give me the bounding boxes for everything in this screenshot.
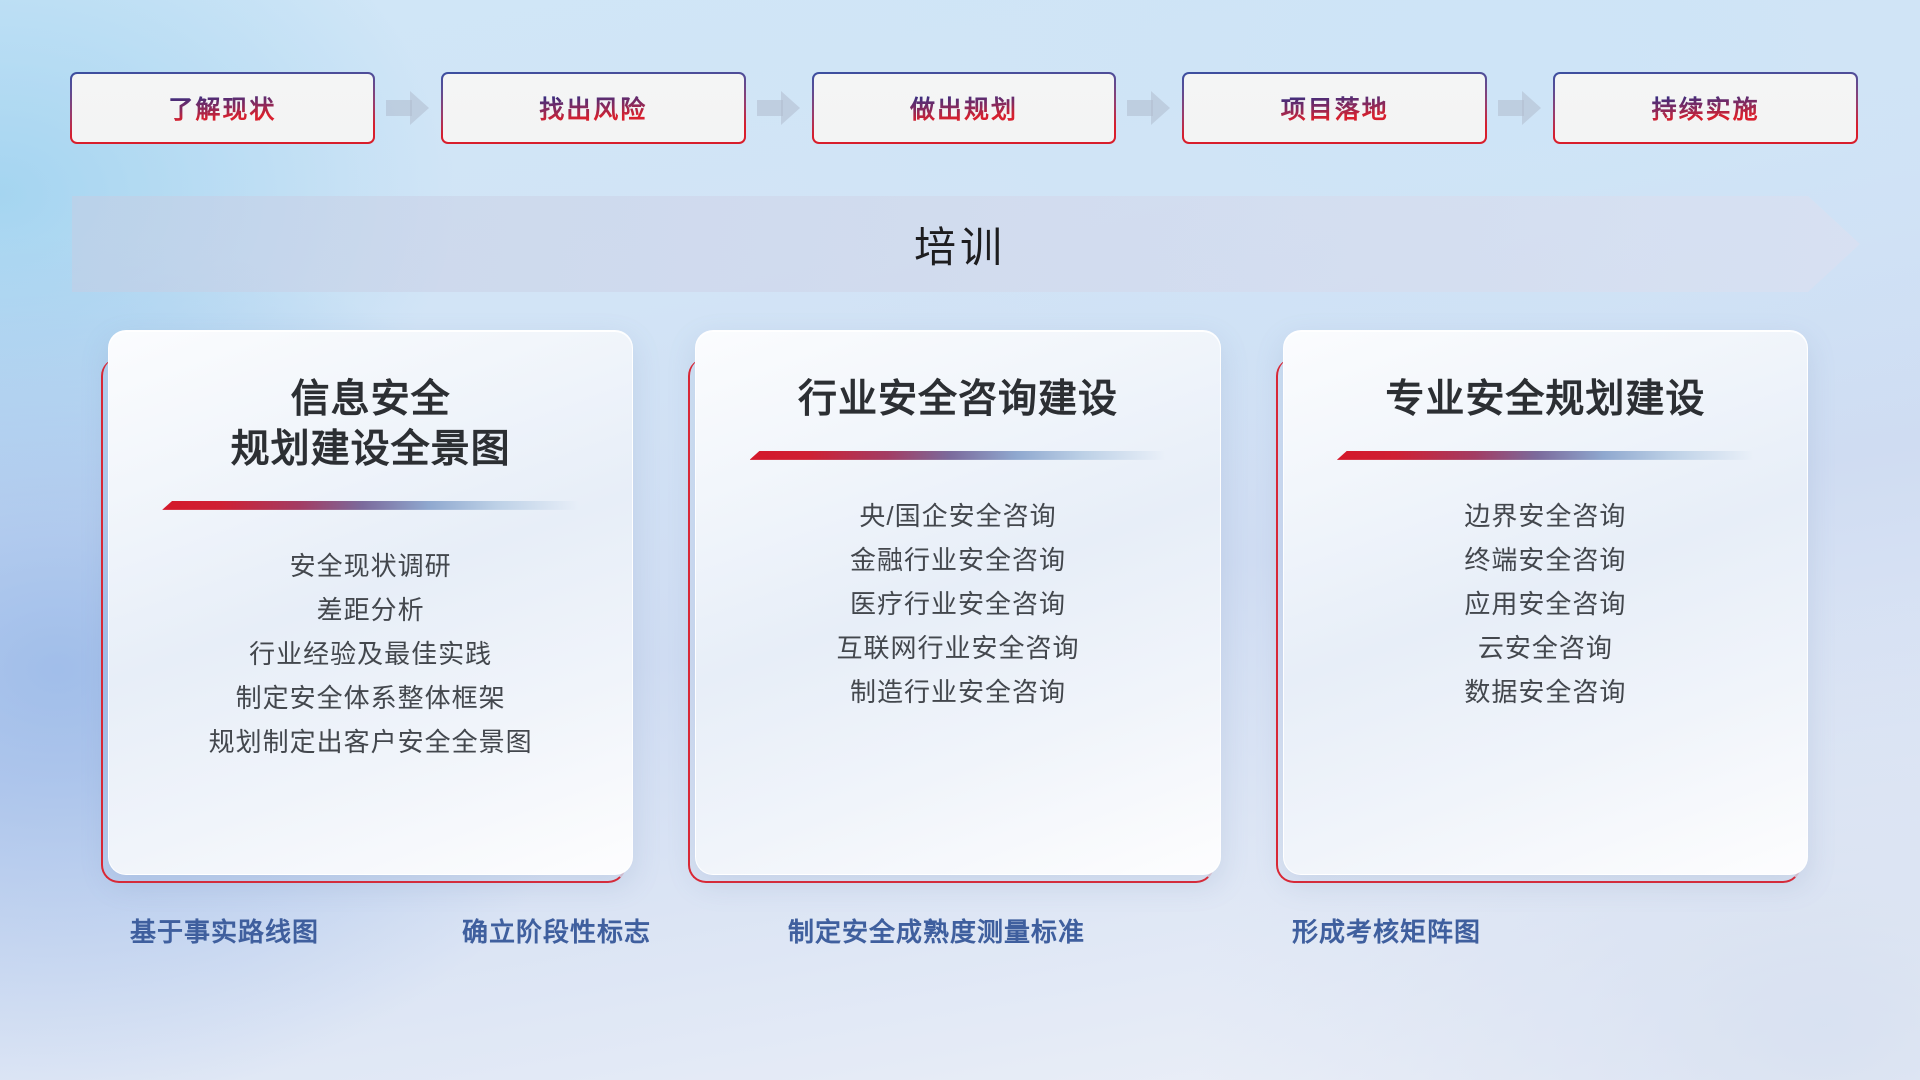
card-2[interactable]: 专业安全规划建设 边界安全咨询 终端安全咨询 应用安全咨询 云安全咨询 数据安全…	[1283, 330, 1808, 875]
list-item: 互联网行业安全咨询	[726, 626, 1189, 670]
arrow-right-icon	[757, 91, 801, 125]
card-row: 信息安全 规划建设全景图 安全现状调研 差距分析 行业经验及最佳实践 制定安全体…	[108, 330, 1808, 875]
footnote-label-0: 基于事实路线图	[130, 912, 319, 949]
training-banner: 培训	[72, 196, 1860, 292]
footnote-label-2: 制定安全成熟度测量标准	[788, 912, 1085, 949]
list-item: 行业经验及最佳实践	[139, 632, 602, 676]
flow-step-label: 项目落地	[1281, 90, 1389, 126]
flow-step-1[interactable]: 找出风险	[441, 72, 746, 144]
arrow-right-icon	[386, 91, 430, 125]
card-wrapper-1: 行业安全咨询建设 央/国企安全咨询 金融行业安全咨询 医疗行业安全咨询 互联网行…	[695, 330, 1220, 875]
list-item: 终端安全咨询	[1314, 538, 1777, 582]
list-item: 云安全咨询	[1314, 626, 1777, 670]
arrow-right-icon	[1498, 91, 1542, 125]
card-item-list: 央/国企安全咨询 金融行业安全咨询 医疗行业安全咨询 互联网行业安全咨询 制造行…	[726, 494, 1189, 714]
card-title: 行业安全咨询建设	[798, 375, 1118, 425]
flow-step-0[interactable]: 了解现状	[70, 72, 375, 144]
list-item: 规划制定出客户安全全景图	[139, 720, 602, 764]
list-item: 数据安全咨询	[1314, 670, 1777, 714]
card-title: 专业安全规划建设	[1385, 375, 1705, 425]
card-divider	[750, 451, 1167, 460]
flow-step-label: 了解现状	[168, 90, 276, 126]
footnote-label-3: 形成考核矩阵图	[1292, 912, 1481, 949]
list-item: 边界安全咨询	[1314, 494, 1777, 538]
list-item: 应用安全咨询	[1314, 582, 1777, 626]
card-wrapper-0: 信息安全 规划建设全景图 安全现状调研 差距分析 行业经验及最佳实践 制定安全体…	[108, 330, 633, 875]
list-item: 医疗行业安全咨询	[726, 582, 1189, 626]
card-0[interactable]: 信息安全 规划建设全景图 安全现状调研 差距分析 行业经验及最佳实践 制定安全体…	[108, 330, 633, 875]
footnote-label-1: 确立阶段性标志	[462, 912, 651, 949]
card-1[interactable]: 行业安全咨询建设 央/国企安全咨询 金融行业安全咨询 医疗行业安全咨询 互联网行…	[695, 330, 1220, 875]
flow-step-3[interactable]: 项目落地	[1182, 72, 1487, 144]
card-title: 信息安全 规划建设全景图	[231, 375, 511, 475]
list-item: 制定安全体系整体框架	[139, 676, 602, 720]
card-item-list: 安全现状调研 差距分析 行业经验及最佳实践 制定安全体系整体框架 规划制定出客户…	[139, 544, 602, 764]
flow-step-label: 做出规划	[910, 90, 1018, 126]
card-divider	[1337, 451, 1754, 460]
list-item: 央/国企安全咨询	[726, 494, 1189, 538]
flow-step-label: 持续实施	[1652, 90, 1760, 126]
process-flow: 了解现状 找出风险 做出规划 项目落地 持续实施	[70, 72, 1858, 144]
list-item: 金融行业安全咨询	[726, 538, 1189, 582]
banner-title: 培训	[914, 214, 1006, 275]
arrow-right-icon	[1127, 91, 1171, 125]
list-item: 差距分析	[139, 588, 602, 632]
card-wrapper-2: 专业安全规划建设 边界安全咨询 终端安全咨询 应用安全咨询 云安全咨询 数据安全…	[1283, 330, 1808, 875]
footnote-row: 基于事实路线图 确立阶段性标志 制定安全成熟度测量标准 形成考核矩阵图	[0, 912, 1920, 958]
card-divider	[162, 501, 579, 510]
flow-step-4[interactable]: 持续实施	[1553, 72, 1858, 144]
list-item: 制造行业安全咨询	[726, 670, 1189, 714]
slide-canvas: 了解现状 找出风险 做出规划 项目落地 持续实施 培训 信息安全 规划建设全景图	[0, 0, 1920, 1080]
flow-step-2[interactable]: 做出规划	[812, 72, 1117, 144]
flow-step-label: 找出风险	[539, 90, 647, 126]
list-item: 安全现状调研	[139, 544, 602, 588]
card-item-list: 边界安全咨询 终端安全咨询 应用安全咨询 云安全咨询 数据安全咨询	[1314, 494, 1777, 714]
